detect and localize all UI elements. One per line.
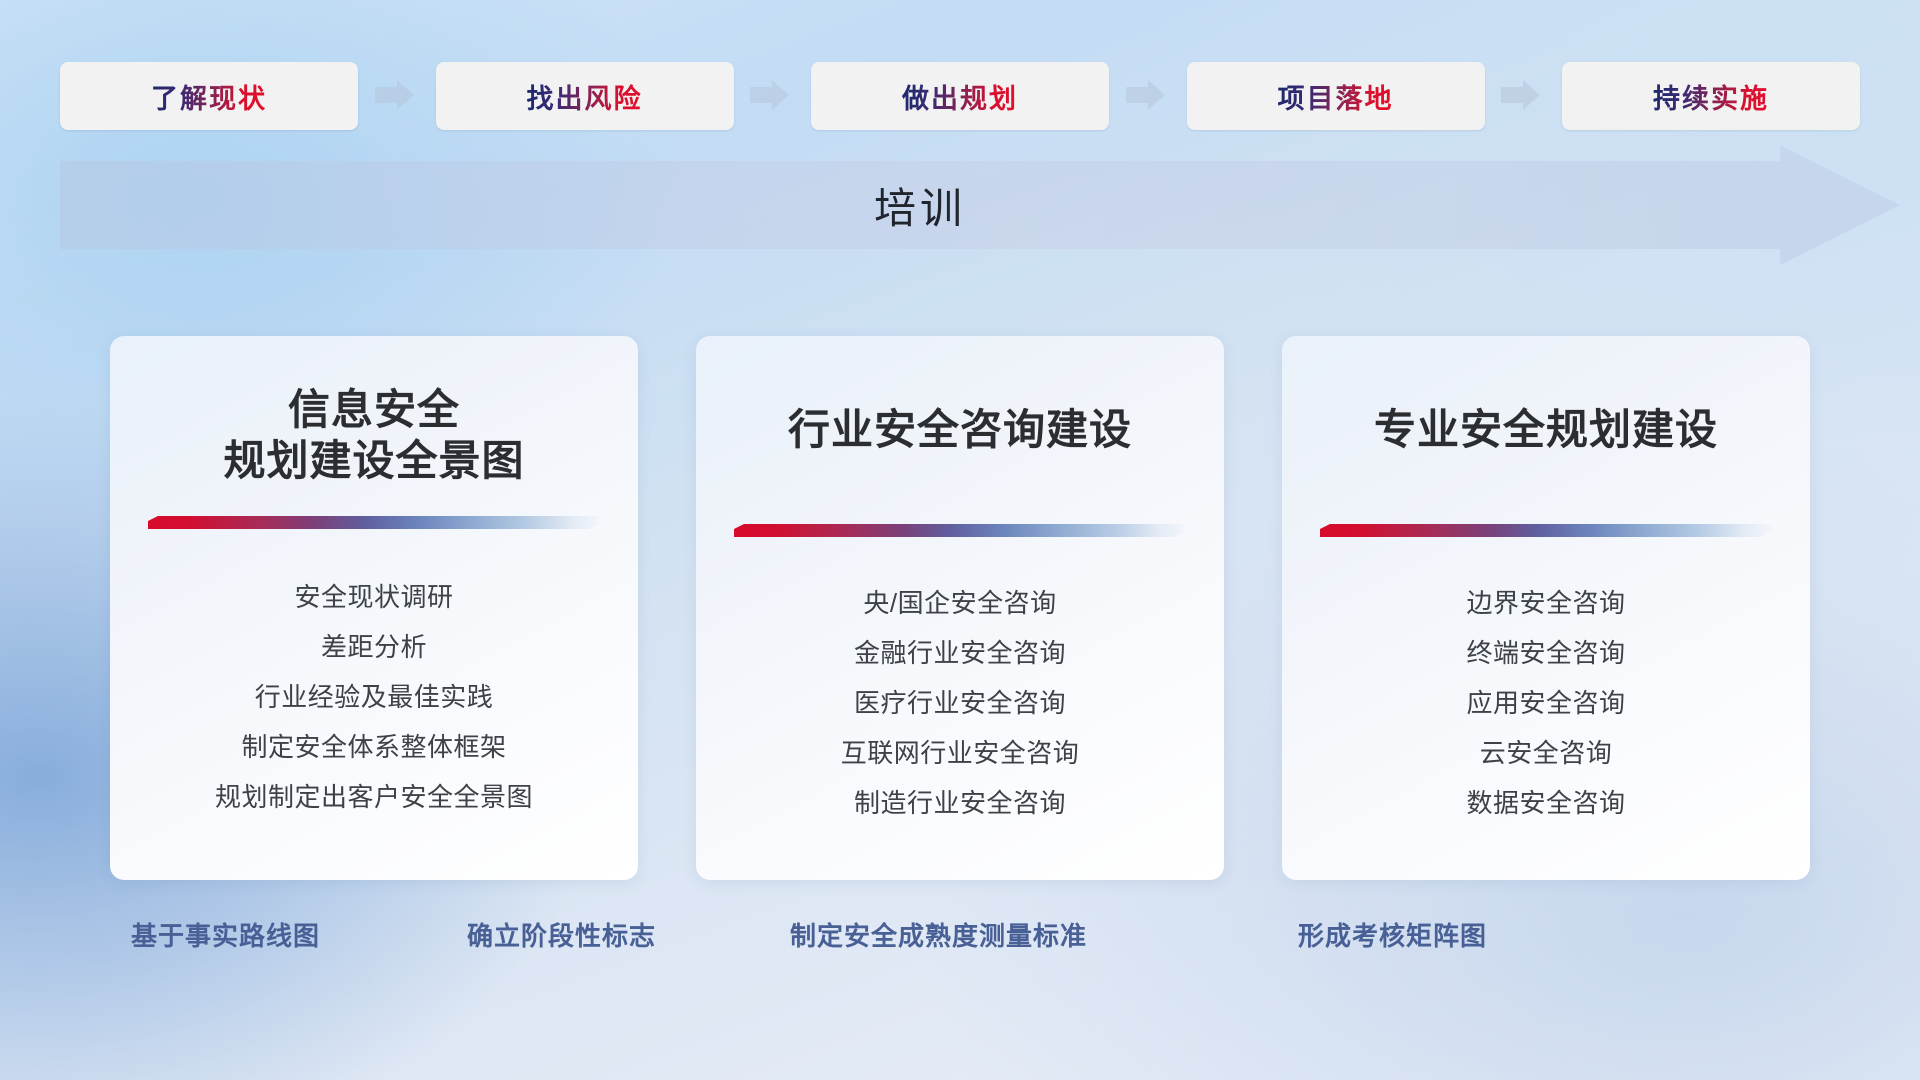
caption-maturity-standard: 制定安全成熟度测量标准 — [790, 916, 1087, 953]
arrow-right-icon — [1126, 76, 1170, 116]
card-item-list: 央/国企安全咨询 金融行业安全咨询 医疗行业安全咨询 互联网行业安全咨询 制造行… — [722, 578, 1198, 828]
card-professional-security-planning[interactable]: 专业安全规划建设 边界安全咨询 终端安全咨询 应用安全咨询 云安全咨询 数据安全… — [1282, 336, 1810, 880]
card-title: 行业安全咨询建设 — [696, 404, 1224, 455]
step-box-3[interactable]: 做出规划 — [811, 62, 1109, 130]
list-item: 互联网行业安全咨询 — [722, 728, 1198, 778]
step-box-1[interactable]: 了解现状 — [60, 62, 358, 130]
list-item: 医疗行业安全咨询 — [722, 678, 1198, 728]
list-item: 边界安全咨询 — [1308, 578, 1784, 628]
list-item: 央/国企安全咨询 — [722, 578, 1198, 628]
training-banner: 培训 — [60, 161, 1860, 249]
step-label-1: 了解现状 — [151, 77, 267, 116]
caption-roadmap: 基于事实路线图 — [131, 916, 320, 953]
card-title-line-1: 专业安全规划建设 — [1282, 404, 1810, 455]
caption-milestones: 确立阶段性标志 — [467, 916, 656, 953]
list-item: 应用安全咨询 — [1308, 678, 1784, 728]
step-box-4[interactable]: 项目落地 — [1187, 62, 1485, 130]
card-divider — [1320, 524, 1772, 537]
card-information-security-blueprint[interactable]: 信息安全 规划建设全景图 安全现状调研 差距分析 行业经验及最佳实践 制定安全体… — [110, 336, 638, 880]
list-item: 制造行业安全咨询 — [722, 778, 1198, 828]
step-label-4: 项目落地 — [1278, 77, 1394, 116]
step-box-5[interactable]: 持续实施 — [1562, 62, 1860, 130]
slide-canvas: 了解现状 找出风险 做出规划 项目落地 持续实施 培训 信息安全 规划建设全景 — [0, 0, 1920, 1080]
card-divider — [734, 524, 1186, 537]
caption-row: 基于事实路线图 确立阶段性标志 制定安全成熟度测量标准 形成考核矩阵图 — [0, 916, 1920, 960]
list-item: 金融行业安全咨询 — [722, 628, 1198, 678]
process-step-row: 了解现状 找出风险 做出规划 项目落地 持续实施 — [60, 62, 1860, 130]
card-title-line-1: 信息安全 — [110, 384, 638, 435]
arrow-right-icon — [1501, 76, 1545, 116]
card-title: 专业安全规划建设 — [1282, 404, 1810, 455]
card-item-list: 安全现状调研 差距分析 行业经验及最佳实践 制定安全体系整体框架 规划制定出客户… — [136, 572, 612, 822]
list-item: 制定安全体系整体框架 — [136, 722, 612, 772]
list-item: 安全现状调研 — [136, 572, 612, 622]
card-title-line-2: 规划建设全景图 — [110, 435, 638, 486]
card-industry-security-consulting[interactable]: 行业安全咨询建设 央/国企安全咨询 金融行业安全咨询 医疗行业安全咨询 互联网行… — [696, 336, 1224, 880]
banner-title: 培训 — [60, 161, 1780, 249]
list-item: 数据安全咨询 — [1308, 778, 1784, 828]
card-row: 信息安全 规划建设全景图 安全现状调研 差距分析 行业经验及最佳实践 制定安全体… — [110, 336, 1810, 880]
list-item: 云安全咨询 — [1308, 728, 1784, 778]
arrow-right-icon — [750, 76, 794, 116]
list-item: 终端安全咨询 — [1308, 628, 1784, 678]
arrow-right-icon — [375, 76, 419, 116]
step-label-5: 持续实施 — [1653, 77, 1769, 116]
caption-assessment-matrix: 形成考核矩阵图 — [1298, 916, 1487, 953]
banner-arrow-tip-icon — [1780, 145, 1900, 265]
card-title: 信息安全 规划建设全景图 — [110, 384, 638, 486]
list-item: 规划制定出客户安全全景图 — [136, 772, 612, 822]
list-item: 行业经验及最佳实践 — [136, 672, 612, 722]
step-box-2[interactable]: 找出风险 — [436, 62, 734, 130]
step-label-2: 找出风险 — [527, 77, 643, 116]
step-label-3: 做出规划 — [902, 77, 1018, 116]
card-item-list: 边界安全咨询 终端安全咨询 应用安全咨询 云安全咨询 数据安全咨询 — [1308, 578, 1784, 828]
list-item: 差距分析 — [136, 622, 612, 672]
card-divider — [148, 516, 600, 529]
card-title-line-1: 行业安全咨询建设 — [696, 404, 1224, 455]
